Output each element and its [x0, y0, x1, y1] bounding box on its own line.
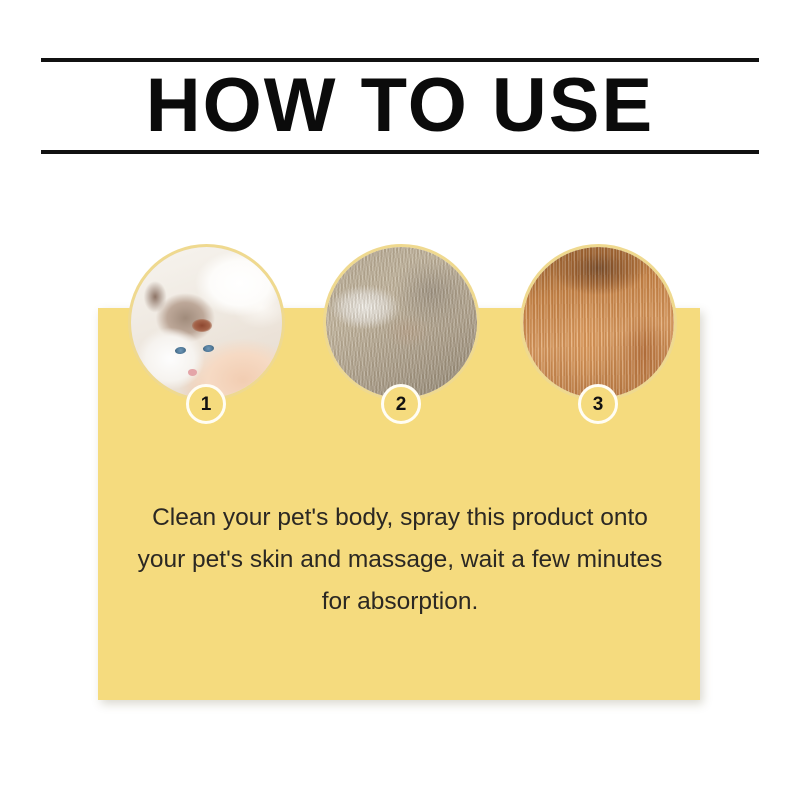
photo-close-up-healthy-ginger-fur	[523, 247, 674, 398]
instructions-text: Clean your pet's body, spray this produc…	[128, 497, 672, 623]
header-rule-bottom	[41, 150, 759, 154]
header: HOW TO USE	[41, 58, 759, 154]
step-1-number-badge: 1	[186, 384, 226, 424]
step-1-photo-frame	[128, 244, 285, 401]
cat-eye-right	[203, 344, 215, 352]
photo-close-up-dull-pet-fur	[326, 247, 477, 398]
step-3-photo-frame	[520, 244, 677, 401]
step-2-photo-frame	[323, 244, 480, 401]
cat-skin-lesion	[192, 319, 212, 332]
cat-nose	[188, 369, 197, 376]
steps-row: 1 2 3	[0, 244, 800, 434]
cat-eye-left	[175, 346, 187, 354]
photo-cat-being-wiped-with-gauze	[131, 247, 282, 398]
step-2: 2	[323, 244, 480, 434]
step-2-number-badge: 2	[381, 384, 421, 424]
page-title: HOW TO USE	[41, 62, 759, 150]
how-to-use-infographic: HOW TO USE 1 2	[0, 0, 800, 800]
step-3-number-badge: 3	[578, 384, 618, 424]
step-1: 1	[128, 244, 285, 434]
step-3: 3	[520, 244, 677, 434]
